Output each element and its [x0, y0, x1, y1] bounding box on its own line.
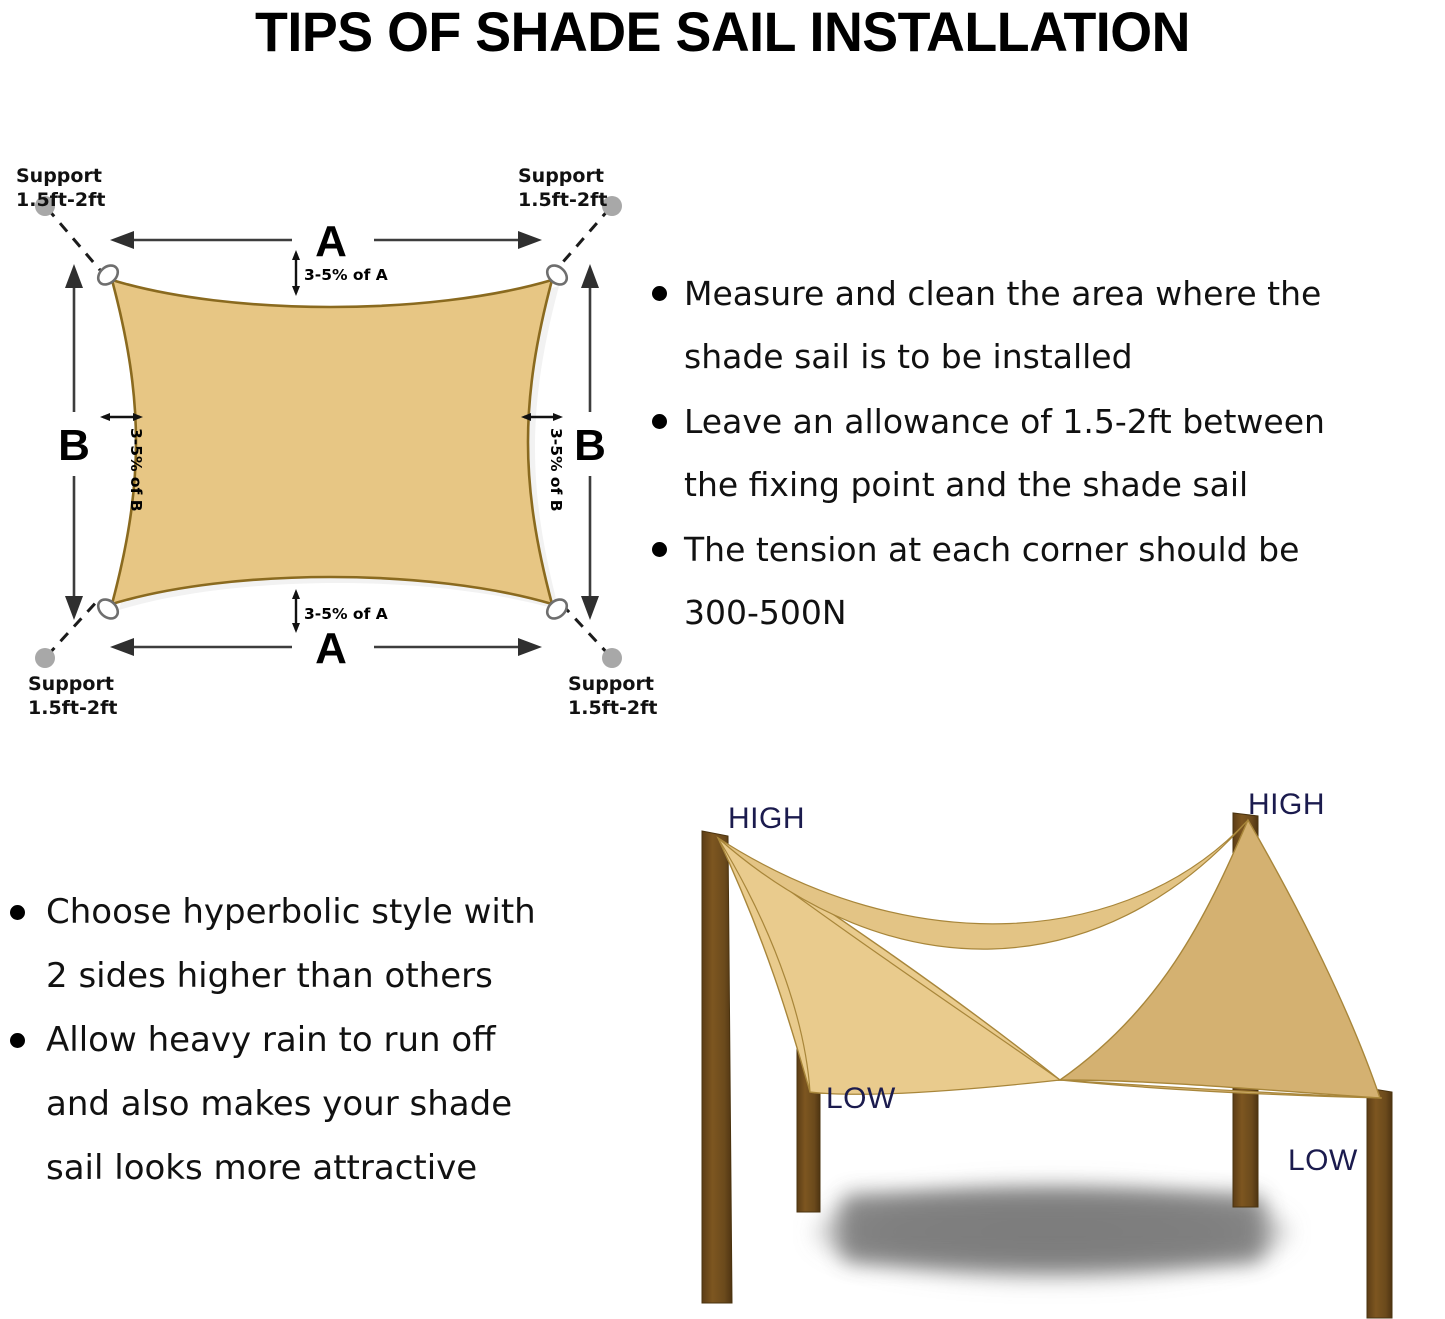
support-label-top-left: Support 1.5ft-2ft — [16, 165, 105, 211]
dimension-label-a-bottom: A — [315, 624, 347, 673]
installation-tips-list: Measure and clean the area where the sha… — [640, 262, 1445, 644]
hyperbolic-tips-list: Choose hyperbolic style with 2 sides hig… — [0, 880, 640, 1200]
tip-line: Leave an allowance of 1.5-2ft between — [684, 402, 1325, 441]
anchor-point-bottom-left — [35, 648, 55, 668]
dimension-a-top: A — [110, 217, 542, 266]
tip-line: Measure and clean the area where the — [684, 274, 1321, 313]
shade-sail-dimension-diagram: A 3-5% of A A 3-5% o — [0, 160, 660, 740]
list-item: Allow heavy rain to run off and also mak… — [0, 1008, 640, 1200]
curve-label-right: 3-5% of B — [547, 428, 565, 512]
list-item: Measure and clean the area where the sha… — [640, 262, 1445, 388]
list-item: Leave an allowance of 1.5-2ft between th… — [640, 390, 1445, 516]
hyperbolic-tips-panel: Choose hyperbolic style with 2 sides hig… — [0, 880, 640, 1210]
post-front-right-low — [1367, 1088, 1392, 1318]
tip-line: Allow heavy rain to run off — [46, 1020, 496, 1060]
support-value-bottom-left: 1.5ft-2ft — [28, 697, 117, 719]
support-value-top-right: 1.5ft-2ft — [518, 189, 607, 211]
support-value-bottom-right: 1.5ft-2ft — [568, 697, 657, 719]
hyperbolic-sail-illustration: HIGH HIGH LOW LOW — [660, 780, 1445, 1319]
dimension-label-b-right: B — [574, 421, 606, 470]
label-high-left: HIGH — [728, 802, 805, 835]
leader-line-top-left — [47, 208, 100, 270]
label-low-right: LOW — [1288, 1144, 1358, 1177]
dimension-b-left: B — [58, 264, 90, 620]
label-high-right: HIGH — [1248, 788, 1325, 821]
shade-sail-shape — [112, 280, 552, 604]
support-title-bottom-left: Support — [28, 673, 114, 695]
support-title-top-right: Support — [518, 165, 604, 187]
dimension-label-b-left: B — [58, 421, 90, 470]
tip-line: and also makes your shade — [46, 1084, 512, 1124]
label-low-left: LOW — [826, 1082, 896, 1115]
installation-tips-panel: Measure and clean the area where the sha… — [640, 262, 1445, 662]
curve-label-top: 3-5% of A — [304, 266, 388, 284]
dimension-b-right: B — [574, 264, 606, 620]
curve-label-left: 3-5% of B — [127, 428, 145, 512]
tip-line: sail looks more attractive — [46, 1148, 477, 1188]
tip-line: the fixing point and the shade sail — [684, 465, 1248, 504]
support-label-bottom-left: Support 1.5ft-2ft — [28, 673, 117, 719]
support-title-top-left: Support — [16, 165, 102, 187]
support-title-bottom-right: Support — [568, 673, 654, 695]
list-item: Choose hyperbolic style with 2 sides hig… — [0, 880, 640, 1008]
tip-line: The tension at each corner should be — [684, 530, 1299, 569]
infographic-page: TIPS OF SHADE SAIL INSTALLATION — [0, 0, 1445, 1319]
support-value-top-left: 1.5ft-2ft — [16, 189, 105, 211]
ground-shadow-core — [840, 1194, 1265, 1262]
page-title: TIPS OF SHADE SAIL INSTALLATION — [29, 0, 1416, 62]
tip-line: shade sail is to be installed — [684, 337, 1133, 376]
support-label-top-right: Support 1.5ft-2ft — [518, 165, 607, 211]
curve-callout-left: 3-5% of B — [100, 413, 145, 512]
curve-label-bottom: 3-5% of A — [304, 605, 388, 623]
anchor-point-bottom-right — [602, 648, 622, 668]
support-label-bottom-right: Support 1.5ft-2ft — [568, 673, 657, 719]
tip-line: 2 sides higher than others — [46, 956, 493, 996]
list-item: The tension at each corner should be 300… — [640, 518, 1445, 644]
tip-line: Choose hyperbolic style with — [46, 892, 536, 932]
tip-line: 300-500N — [684, 593, 847, 632]
leader-line-top-right — [556, 208, 610, 270]
dimension-a-bottom: A — [110, 624, 542, 673]
post-back-left-high — [702, 831, 732, 1303]
dimension-label-a-top: A — [315, 217, 347, 266]
